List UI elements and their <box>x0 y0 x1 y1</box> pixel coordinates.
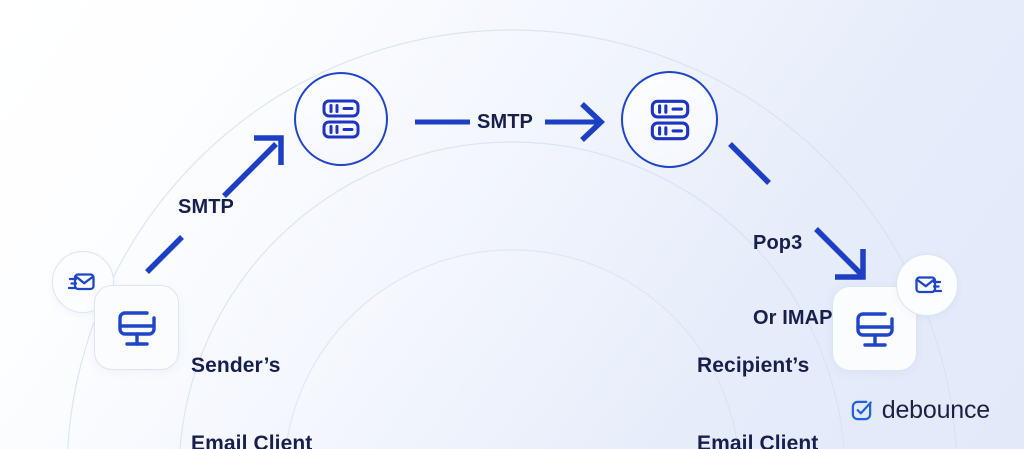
email-send-icon <box>66 265 100 299</box>
email-receive-icon <box>910 268 944 302</box>
sender-server-node <box>294 72 388 166</box>
arrow-layer <box>0 0 1024 449</box>
sender-client-card <box>94 285 179 370</box>
monitor-icon <box>109 300 165 356</box>
sender-client-label-line1: Sender’s <box>191 353 312 379</box>
recipient-server-node <box>621 71 718 168</box>
recipient-email-badge <box>896 254 958 316</box>
edge-label-smtp-right: SMTP <box>477 110 533 135</box>
edge-label-smtp-up: SMTP <box>178 195 234 220</box>
brand-logo[interactable]: debounce <box>850 396 990 425</box>
sender-client-label: Sender’s Email Client <box>191 300 312 449</box>
server-icon <box>644 94 696 146</box>
edge-label-imap: Or IMAP <box>753 306 833 331</box>
server-icon <box>316 94 366 144</box>
sender-client-label-line2: Email Client <box>191 431 312 449</box>
check-circle-icon <box>850 399 873 422</box>
recipient-client-label-line2: Email Client <box>697 431 818 449</box>
brand-name: debounce <box>882 396 990 425</box>
diagram-canvas: Sender’s Email Client <box>0 0 1024 449</box>
edge-label-pop3-imap: Pop3 Or IMAP <box>753 181 833 381</box>
monitor-icon <box>847 301 903 357</box>
background-rings <box>0 0 1024 449</box>
edge-label-pop3: Pop3 <box>753 231 833 256</box>
